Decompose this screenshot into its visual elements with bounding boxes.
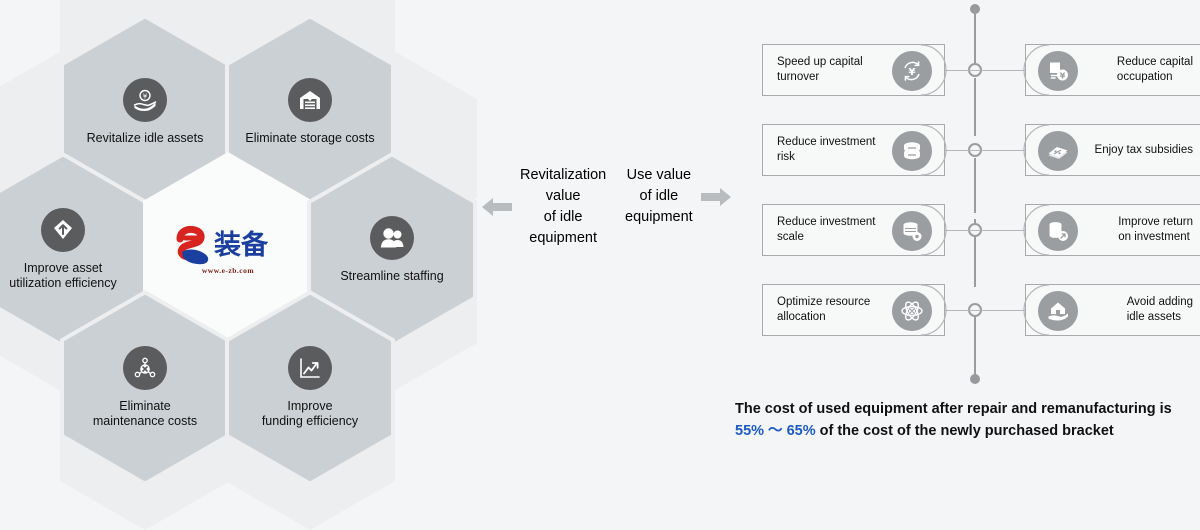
benefit-card-label: Improve return on investment	[1060, 215, 1193, 245]
benefit-card-avoid-adding-idle-assets[interactable]: Avoid adding idle assets	[1025, 284, 1200, 336]
caption-line-2: 55% ～ 65% of the cost of the newly purch…	[735, 420, 1195, 442]
center-arrow-band: Revitalization value of idle equipment U…	[470, 0, 740, 460]
hexagon-cluster: ¥ Revitalize idle assets	[0, 0, 460, 460]
connector-line	[975, 230, 1025, 231]
atom-icon	[892, 291, 932, 331]
spine-segment	[974, 158, 976, 213]
invoice-yen-icon: ¥	[1038, 51, 1078, 91]
coins-arrow-icon	[1038, 211, 1078, 251]
benefit-card-improve-return-on-investment[interactable]: Improve return on investment	[1025, 204, 1200, 256]
hex-cell-label: Eliminate storage costs	[245, 131, 374, 147]
cash-percent-icon	[1038, 131, 1078, 171]
revitalization-value-group: Revitalization value of idle equipment	[480, 165, 606, 249]
hex-cell-label: Streamline staffing	[340, 269, 443, 285]
benefit-card-reduce-capital-occupation[interactable]: ¥ Reduce capital occupation	[1025, 44, 1200, 96]
caption-line-2-rest: of the cost of the newly purchased brack…	[816, 423, 1114, 439]
yen-exchange-icon: ¥	[892, 51, 932, 91]
spine-segment	[974, 9, 976, 71]
hex-cell-label: Improve funding efficiency	[262, 399, 358, 430]
spine-segment	[974, 310, 976, 378]
database-gear-icon	[892, 211, 932, 251]
arrow-right-icon	[699, 184, 733, 210]
coin-stack-icon	[892, 131, 932, 171]
benefit-card-label: Reduce capital occupation	[1059, 55, 1193, 85]
shield-up-arrow-icon	[41, 208, 85, 252]
benefit-card-reduce-investment-risk[interactable]: Reduce investment risk	[762, 124, 945, 176]
connector-line	[975, 310, 1025, 311]
network-x-icon	[123, 346, 167, 390]
benefit-card-speed-up-capital-turnover[interactable]: Speed up capital turnover ¥	[762, 44, 945, 96]
connector-line	[940, 70, 975, 71]
svg-text:¥: ¥	[143, 92, 148, 100]
benefit-card-optimize-resource-allocation[interactable]: Optimize resource allocation	[762, 284, 945, 336]
infographic-canvas: ¥ Revitalize idle assets	[0, 0, 1200, 460]
connector-line	[975, 70, 1025, 71]
benefit-card-label: Avoid adding idle assets	[1069, 295, 1193, 325]
users-icon	[370, 216, 414, 260]
cost-caption: The cost of used equipment after repair …	[735, 398, 1195, 443]
growth-chart-icon	[288, 346, 332, 390]
hex-cell-label: Improve asset utilization efficiency	[9, 261, 116, 292]
arrow-left-icon	[480, 194, 514, 220]
benefits-timeline-panel: Speed up capital turnover ¥	[740, 0, 1200, 460]
use-value-group: Use value of idle equipment	[625, 165, 733, 228]
revitalization-value-label: Revitalization value of idle equipment	[520, 165, 606, 249]
connector-line	[975, 150, 1025, 151]
connector-line	[940, 150, 975, 151]
e-zb-logo: 装备 www.e-zb.com	[176, 225, 280, 275]
benefit-card-enjoy-tax-subsidies[interactable]: Enjoy tax subsidies	[1025, 124, 1200, 176]
caption-highlight-range: 55% ～ 65%	[735, 423, 816, 439]
connector-line	[940, 230, 975, 231]
hand-holding-coin-icon: ¥	[123, 78, 167, 122]
caption-line-1: The cost of used equipment after repair …	[735, 398, 1195, 420]
svg-text:¥: ¥	[909, 67, 916, 78]
use-value-label: Use value of idle equipment	[625, 165, 693, 228]
warehouse-down-arrow-icon	[288, 78, 332, 122]
svg-text:¥: ¥	[1060, 71, 1066, 80]
hand-house-icon	[1038, 291, 1078, 331]
spine-dot-bottom	[970, 374, 980, 384]
connector-line	[940, 310, 975, 311]
svg-text:装备: 装备	[214, 230, 269, 261]
spine-segment	[974, 78, 976, 136]
hex-cell-label: Eliminate maintenance costs	[93, 399, 197, 430]
logo-url-text: www.e-zb.com	[202, 266, 254, 275]
hex-cell-label: Revitalize idle assets	[87, 131, 204, 147]
logo-mark: 装备	[176, 225, 280, 271]
benefit-card-reduce-investment-scale[interactable]: Reduce investment scale	[762, 204, 945, 256]
